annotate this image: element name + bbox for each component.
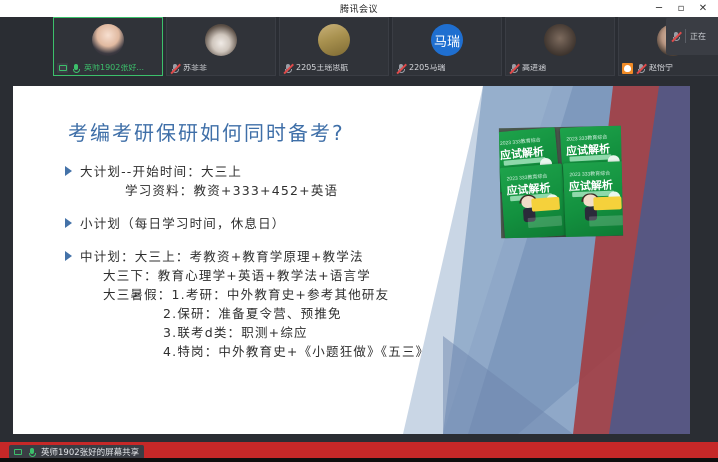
avatar: [92, 24, 124, 56]
participant-name: 英师1902张好...: [84, 64, 144, 72]
slide-line: 4.特岗：中外教育史+《小题狂做》《五三》: [65, 342, 535, 361]
participant-status-bar: 2205马瑞: [393, 61, 501, 75]
screen-share-chip[interactable]: 英师1902张好的屏幕共享: [9, 445, 144, 459]
slide-line: 学习资料：教资+333+452+英语: [65, 181, 535, 200]
triangle-bullet-icon: [65, 218, 72, 228]
avatar: 马瑞: [431, 24, 463, 56]
presentation-slide: 考编考研保研如何同时备考? 大计划--开始时间：大三上 学习资料：教资+333+…: [13, 86, 690, 434]
participant-status-bar: 高进涵: [506, 61, 614, 75]
triangle-bullet-icon: [65, 251, 72, 261]
side-panel-label: 正在: [690, 31, 706, 42]
participant-name: 2205马瑞: [409, 64, 445, 72]
maximize-button[interactable]: ▫: [670, 0, 692, 17]
slide-line: 大三暑假：1.考研：中外教育史+参考其他研友: [65, 285, 535, 304]
slide-line: 大三下：教育心理学+英语+教学法+语言学: [65, 266, 535, 285]
book-badge: [593, 196, 621, 210]
microphone-muted-icon: [636, 63, 646, 74]
microphone-muted-icon: [671, 31, 681, 42]
close-button[interactable]: ✕: [692, 0, 714, 17]
slide-line: 大计划--开始时间：大三上: [80, 162, 242, 181]
host-icon: [622, 63, 633, 74]
slide-line: 2.保研：准备夏令营、预推免: [65, 304, 535, 323]
title-bar: 腾讯会议 ─ ▫ ✕: [0, 0, 718, 17]
triangle-bullet-icon: [65, 166, 72, 176]
avatar: [205, 24, 237, 56]
screen-share-icon: [12, 447, 23, 457]
participant-tile-0[interactable]: 英师1902张好...: [53, 17, 163, 76]
microphone-muted-icon: [283, 63, 293, 74]
avatar: [544, 24, 576, 56]
participant-status-bar: 苏菲菲: [167, 61, 275, 75]
microphone-icon: [27, 447, 37, 458]
participant-tile-2[interactable]: 2205王瑶思航: [279, 17, 389, 76]
participant-status-bar: 赵怡宁: [619, 61, 718, 75]
slide-title: 考编考研保研如何同时备考?: [68, 117, 345, 146]
window-title: 腾讯会议: [340, 2, 378, 15]
minimize-button[interactable]: ─: [648, 0, 670, 17]
microphone-muted-icon: [170, 63, 180, 74]
textbook-photo: 2023 333教育综合 应试解析 2023 333教育综合 应试解析 2023…: [499, 126, 623, 239]
slide-line: 小计划（每日学习时间，休息日）: [80, 214, 286, 233]
taskbar-strip: [0, 458, 718, 462]
participant-status-bar: 2205王瑶思航: [280, 61, 388, 75]
slide-line: 中计划：大三上：考教资+教育学原理+教学法: [80, 247, 364, 266]
participant-filmstrip[interactable]: 英师1902张好... 苏菲菲 2205王瑶思航 马瑞 2205马瑞: [0, 17, 718, 80]
microphone-muted-icon: [396, 63, 406, 74]
participant-name: 高进涵: [522, 64, 546, 72]
window-controls: ─ ▫ ✕: [648, 0, 714, 17]
slide-line: 3.联考d类：职测+综应: [65, 323, 535, 342]
participant-tile-4[interactable]: 高进涵: [505, 17, 615, 76]
book-badge: [531, 197, 560, 212]
microphone-icon: [71, 63, 81, 74]
divider: [685, 29, 686, 43]
slide-body: 大计划--开始时间：大三上 学习资料：教资+333+452+英语 小计划（每日学…: [65, 162, 535, 361]
side-panel-peek[interactable]: 正在: [666, 17, 718, 55]
tencent-meeting-window: 腾讯会议 ─ ▫ ✕ 英师1902张好... 苏菲菲: [0, 0, 718, 462]
bullet-row: 中计划：大三上：考教资+教育学原理+教学法: [65, 247, 535, 266]
screen-share-label: 英师1902张好的屏幕共享: [41, 446, 139, 458]
participant-tile-1[interactable]: 苏菲菲: [166, 17, 276, 76]
participant-name: 赵怡宁: [649, 64, 673, 72]
screen-share-icon: [57, 63, 68, 73]
shared-screen-stage: 考编考研保研如何同时备考? 大计划--开始时间：大三上 学习资料：教资+333+…: [0, 80, 718, 442]
participant-tile-3[interactable]: 马瑞 2205马瑞: [392, 17, 502, 76]
avatar: [318, 24, 350, 56]
slide-block-2: 中计划：大三上：考教资+教育学原理+教学法 大三下：教育心理学+英语+教学法+语…: [65, 247, 535, 361]
participant-status-bar: 英师1902张好...: [54, 61, 162, 75]
bullet-row: 小计划（每日学习时间，休息日）: [65, 214, 535, 233]
slide-block-1: 小计划（每日学习时间，休息日）: [65, 214, 535, 233]
participant-name: 2205王瑶思航: [296, 64, 348, 72]
bullet-row: 大计划--开始时间：大三上: [65, 162, 535, 181]
slide-block-0: 大计划--开始时间：大三上 学习资料：教资+333+452+英语: [65, 162, 535, 200]
participant-name: 苏菲菲: [183, 64, 207, 72]
microphone-muted-icon: [509, 63, 519, 74]
